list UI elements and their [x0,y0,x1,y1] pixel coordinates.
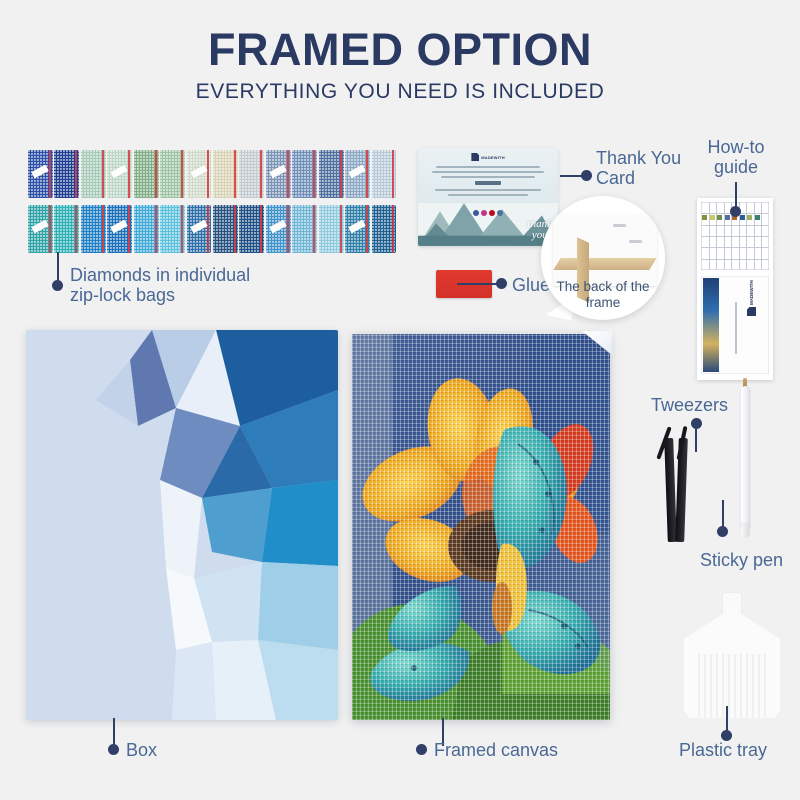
bag-zip-seal [392,205,394,253]
bag-zip-seal [155,150,157,198]
mosaic-grid-lines [352,334,610,720]
diamond-bag [134,205,159,253]
bag-zip-seal [128,205,130,253]
frame-corner-photo [553,214,657,286]
bag-zip-seal [234,150,236,198]
diamond-bag-row-bottom [28,205,398,253]
diamond-bags-group [28,150,398,255]
diamond-bag [160,150,185,198]
leader-dot-box [108,744,119,755]
leader-dot-how-to-guide [730,206,741,217]
guide-booklet-cover: MADEWITH [701,276,769,374]
diamond-bag [107,150,132,198]
card-social-icons [473,210,503,216]
frame-back-zoom-bubble: The back of the frame [541,196,665,320]
guide-logo-text: MADEWITH [749,280,754,305]
framed-canvas [352,334,610,720]
bag-zip-seal [102,205,104,253]
label-plastic-tray: Plastic tray [679,740,767,760]
bag-zip-seal [313,205,315,253]
diamond-bag [292,150,317,198]
leader-line-diamonds [57,252,59,282]
chart-color-swatch [717,215,722,220]
pen-end-cap [741,522,750,538]
bag-zip-seal [181,205,183,253]
label-box: Box [126,740,157,760]
diamond-bag [28,205,53,253]
diamond-bag [292,205,317,253]
frame-staple-1 [613,224,626,227]
box-lowpoly-pattern [26,330,338,720]
chart-color-swatch [755,215,760,220]
sticky-pen [739,378,752,538]
leader-line-tweezers [695,428,697,452]
thank-you-card: MADEWITH thank you [418,148,558,246]
diamond-bag [345,205,370,253]
card-promo-code [475,181,501,185]
label-framed-canvas: Framed canvas [434,740,558,760]
diamond-bag [160,205,185,253]
diamond-bag [372,205,397,253]
bag-zip-seal [366,150,368,198]
bag-zip-seal [287,150,289,198]
leader-dot-thank-you [581,170,592,181]
leader-dot-diamonds [52,280,63,291]
frame-staple-2 [629,240,642,243]
bubble-caption: The back of the frame [541,279,665,311]
leader-line-box [113,718,115,746]
diamond-bag [187,150,212,198]
label-how-to-guide: How-to guide [700,137,772,177]
diamond-bag [239,150,264,198]
chart-gridline [701,225,769,226]
chart-color-swatch [702,215,707,220]
guide-cover-photo [703,278,719,372]
diamond-logo-icon [471,153,479,161]
bag-zip-seal [207,150,209,198]
diamond-bag [266,205,291,253]
bag-zip-seal [234,205,236,253]
leader-line-plastic-tray [726,706,728,732]
bag-zip-seal [181,150,183,198]
tray-ridges [698,654,766,720]
frame-wood-bar-horizontal [553,258,656,270]
chart-color-swatch [710,215,715,220]
diamond-bag [54,205,79,253]
bag-zip-seal [75,150,77,198]
leader-dot-framed-canvas [416,744,427,755]
diamond-bag [107,205,132,253]
diamond-bag [28,150,53,198]
guide-brand-logo: MADEWITH [747,280,756,316]
bag-zip-seal [287,205,289,253]
bag-zip-seal [128,150,130,198]
diamond-painting-mosaic [352,334,610,720]
label-tweezers: Tweezers [651,395,728,415]
label-thank-you-card: Thank You Card [596,148,681,188]
pinterest-icon [489,210,495,216]
leader-dot-glue [496,278,507,289]
bag-zip-seal [49,205,51,253]
diamond-bag [81,205,106,253]
diamond-bag [266,150,291,198]
diamond-bag [239,205,264,253]
tray-body [684,608,780,718]
bag-zip-seal [155,205,157,253]
pen-body [741,386,750,530]
diamond-bag [319,150,344,198]
diamond-bag [134,150,159,198]
bag-zip-seal [75,205,77,253]
bag-zip-seal [102,150,104,198]
chart-color-swatch [747,215,752,220]
card-brand-logo: MADEWITH [471,153,505,161]
diamond-bag [345,150,370,198]
diamond-bag-row-top [28,150,398,198]
chart-gridline [701,259,769,260]
leader-line-sticky-pen [722,500,724,528]
card-body-text [428,166,548,199]
diamond-bag [372,150,397,198]
label-sticky-pen: Sticky pen [700,550,783,570]
diamond-logo-icon [747,307,756,316]
card-logo-text: MADEWITH [481,155,505,160]
bag-zip-seal [392,150,394,198]
bag-zip-seal [49,150,51,198]
product-box: MADEWITH DIAMONDS [26,330,338,720]
infographic-canvas: FRAMED OPTION EVERYTHING YOU NEED IS INC… [0,0,800,800]
how-to-guide: MADEWITH [697,198,773,380]
diamond-bag [213,150,238,198]
bag-zip-seal [260,150,262,198]
instagram-icon [481,210,487,216]
diamond-bag [213,205,238,253]
bag-zip-seal [207,205,209,253]
leader-line-glue [457,283,501,285]
plastic-tray [684,592,780,718]
chart-color-swatch [740,215,745,220]
chart-color-swatch [725,215,730,220]
diamond-bag [54,150,79,198]
bag-zip-seal [260,205,262,253]
diamond-bag [81,150,106,198]
facebook-icon [473,210,479,216]
page-subtitle: EVERYTHING YOU NEED IS INCLUDED [0,80,800,104]
guide-cover-rule [735,302,737,354]
diamond-bag [187,205,212,253]
chart-gridline [701,236,769,237]
bag-zip-seal [366,205,368,253]
page-title: FRAMED OPTION [0,24,800,76]
chart-gridline [701,247,769,248]
bag-zip-seal [313,150,315,198]
frame-back-panel [553,214,657,286]
youtube-icon [497,210,503,216]
bag-zip-seal [340,150,342,198]
leader-dot-sticky-pen [717,526,728,537]
bag-zip-seal [340,205,342,253]
label-diamonds: Diamonds in individual zip-lock bags [70,265,250,305]
diamond-bag [319,205,344,253]
